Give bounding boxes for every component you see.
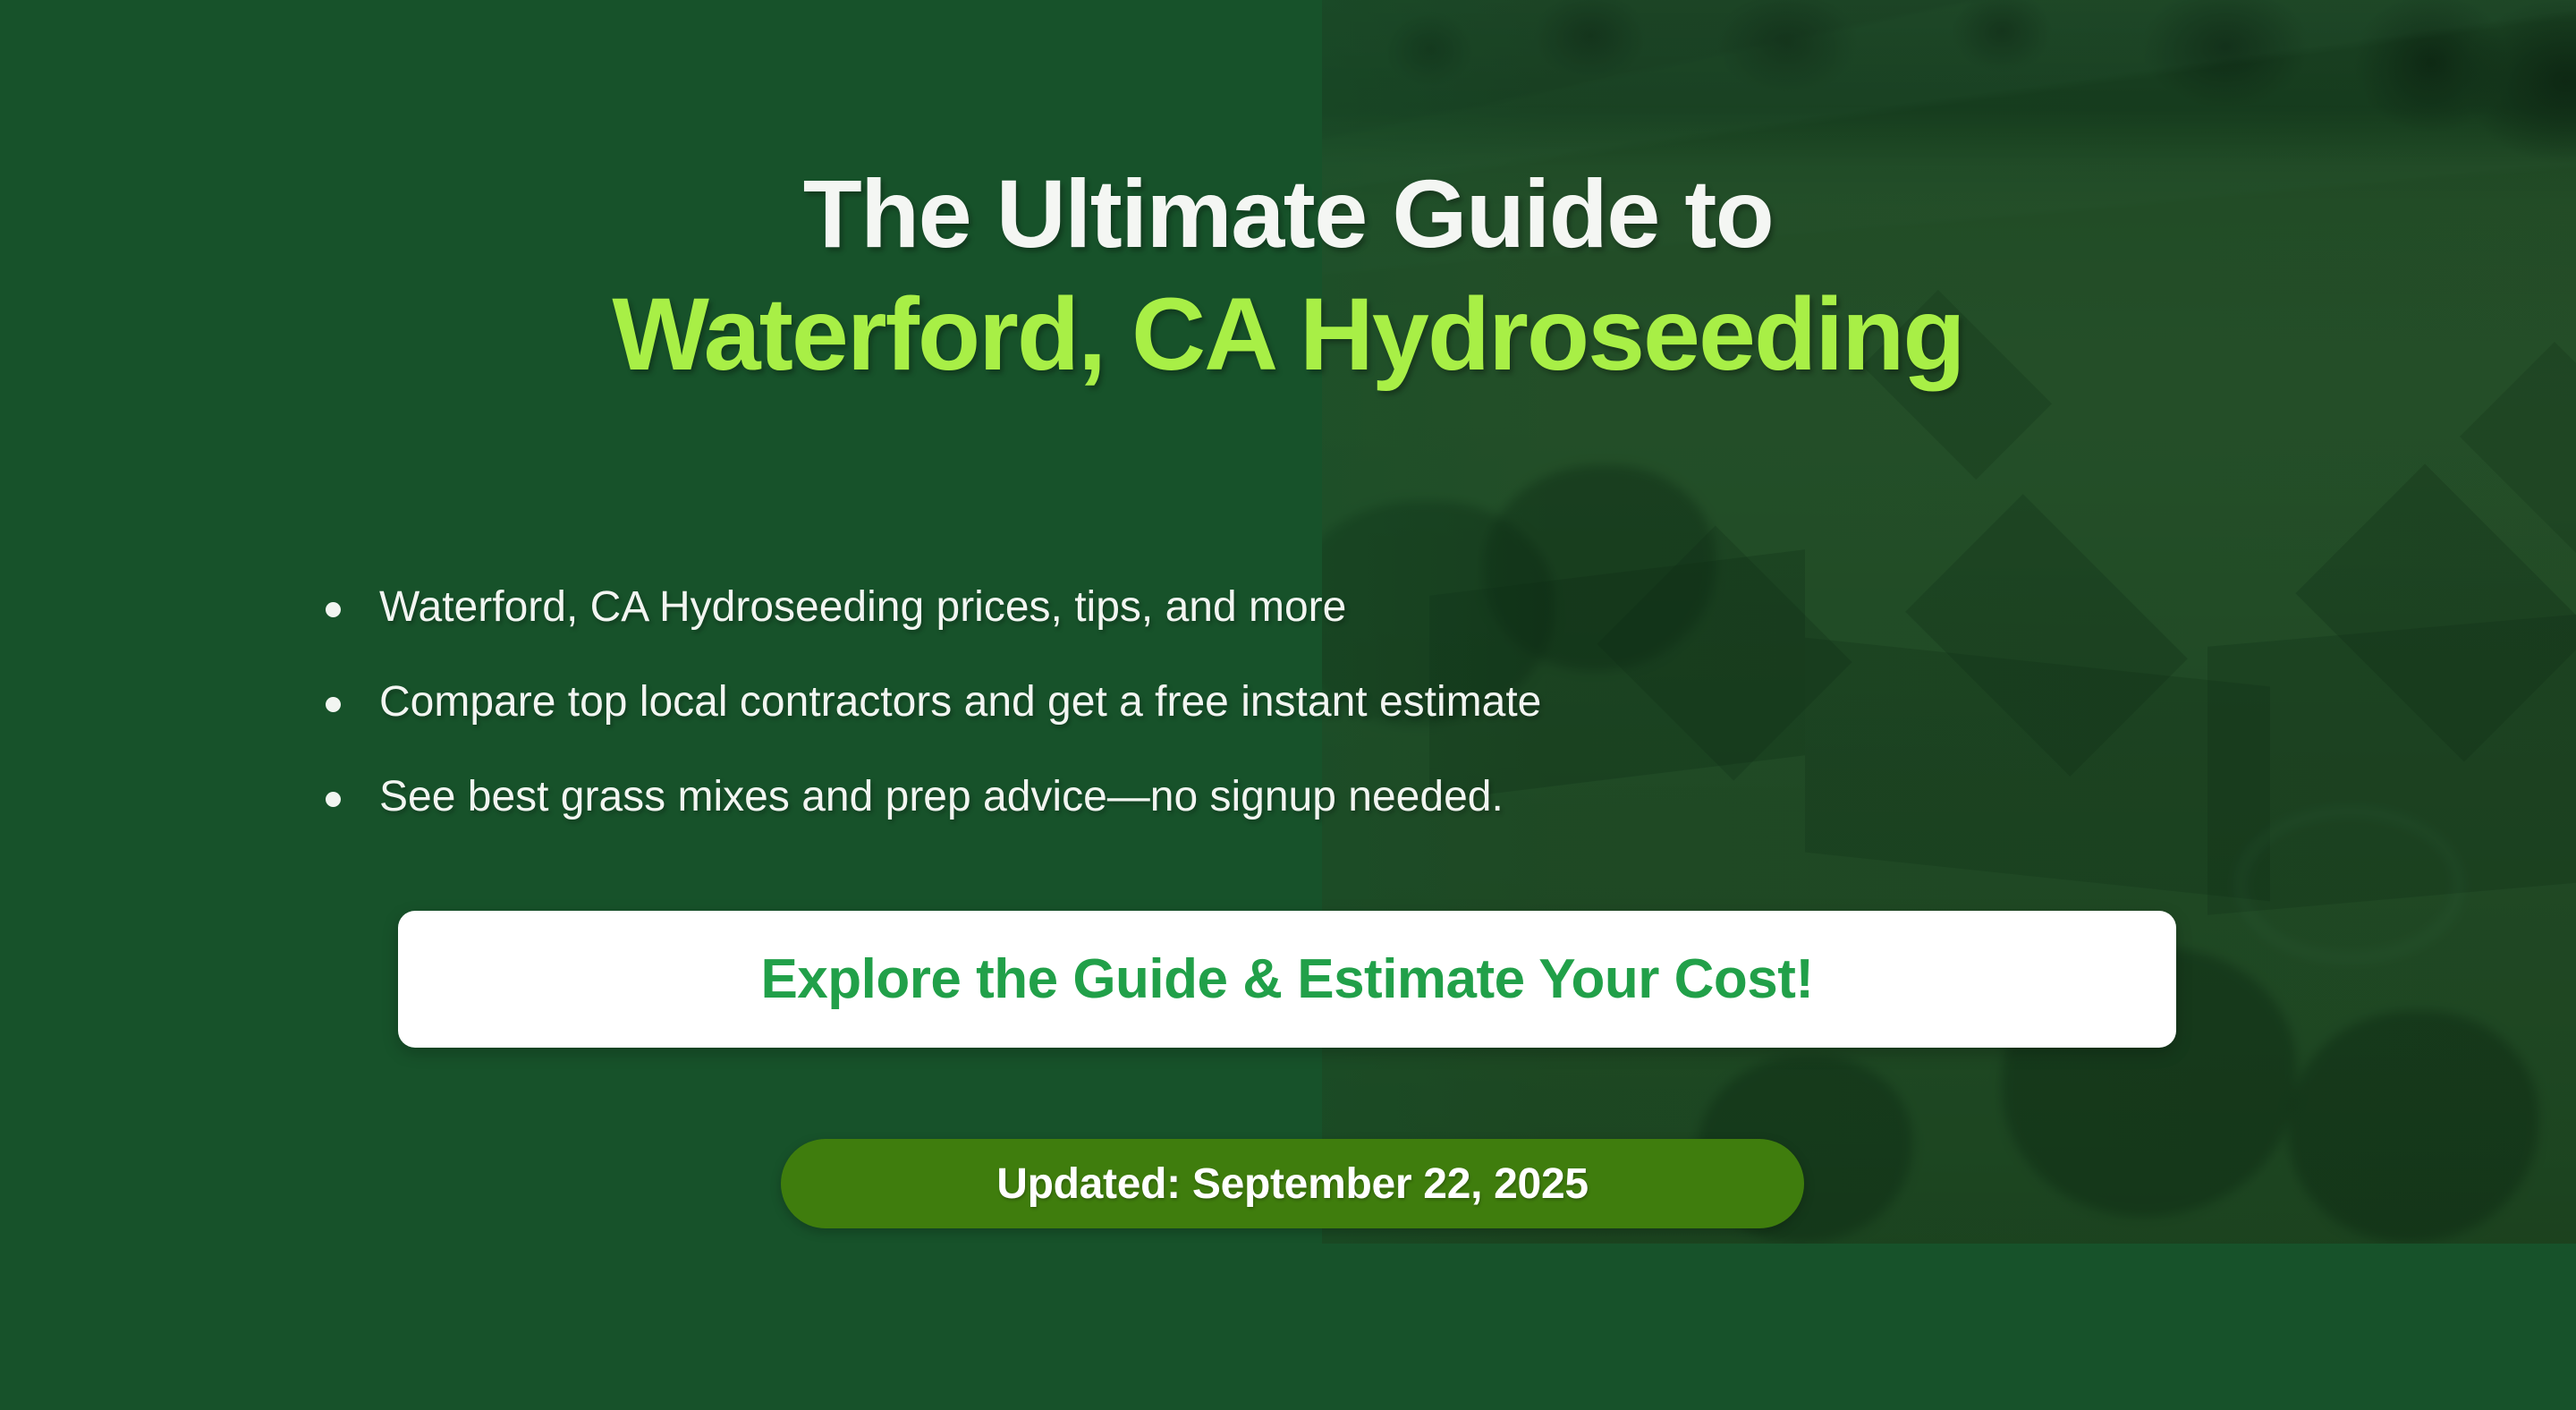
list-item: See best grass mixes and prep advice—no … xyxy=(318,776,1541,819)
benefits-list: Waterford, CA Hydroseeding prices, tips,… xyxy=(318,586,1541,819)
list-item-label: See best grass mixes and prep advice—no … xyxy=(379,773,1504,820)
headline-line-1: The Ultimate Guide to xyxy=(0,166,2576,262)
page-title: The Ultimate Guide to Waterford, CA Hydr… xyxy=(0,166,2576,386)
headline-line-2-location: Waterford, CA Hydroseeding xyxy=(0,284,2576,386)
list-item-label: Waterford, CA Hydroseeding prices, tips,… xyxy=(379,583,1346,631)
bullet-dot-icon xyxy=(326,602,341,617)
list-item: Waterford, CA Hydroseeding prices, tips,… xyxy=(318,586,1541,629)
bullet-dot-icon xyxy=(326,792,341,807)
explore-guide-button[interactable]: Explore the Guide & Estimate Your Cost! xyxy=(398,911,2176,1048)
list-item: Compare top local contractors and get a … xyxy=(318,681,1541,724)
updated-badge-label: Updated: September 22, 2025 xyxy=(996,1159,1589,1209)
list-item-label: Compare top local contractors and get a … xyxy=(379,678,1541,726)
bullet-dot-icon xyxy=(326,697,341,712)
cta-container: Explore the Guide & Estimate Your Cost! xyxy=(398,911,2176,1048)
hero-banner: The Ultimate Guide to Waterford, CA Hydr… xyxy=(0,0,2576,1410)
updated-badge: Updated: September 22, 2025 xyxy=(781,1139,1804,1228)
